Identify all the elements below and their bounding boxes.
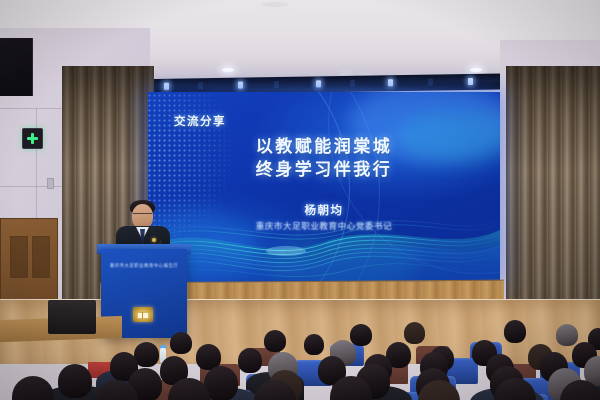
headline-line-1: 以教赋能润棠城 bbox=[148, 136, 500, 159]
wall-speaker bbox=[0, 38, 33, 96]
auditorium-photo: 交流分享 以教赋能润棠城 终身学习伴我行 杨朝均 重庆市大足职业教育中心党委书记… bbox=[0, 0, 600, 400]
screen-badge-label: 交流分享 bbox=[174, 113, 226, 129]
podium-banner-text: 重庆市大足职业教育中心报告厅 bbox=[105, 263, 183, 269]
lapel-badge bbox=[152, 238, 156, 242]
downlight bbox=[262, 2, 288, 7]
first-aid-sign-icon bbox=[22, 128, 43, 149]
audience-seating bbox=[0, 318, 600, 400]
downlight bbox=[470, 68, 482, 72]
headline-line-2: 终身学习伴我行 bbox=[148, 159, 500, 182]
downlight bbox=[222, 68, 234, 72]
stage-curtain-right bbox=[506, 66, 600, 328]
led-presentation-screen: 交流分享 以教赋能润棠城 终身学习伴我行 杨朝均 重庆市大足职业教育中心党委书记 bbox=[148, 92, 500, 282]
wall-plate bbox=[47, 178, 54, 189]
screen-speaker-name: 杨朝均 bbox=[148, 202, 500, 218]
screen-headline: 以教赋能润棠城 终身学习伴我行 bbox=[148, 136, 500, 182]
screen-speaker-title: 重庆市大足职业教育中心党委书记 bbox=[148, 220, 500, 232]
glasses-icon bbox=[133, 213, 152, 218]
